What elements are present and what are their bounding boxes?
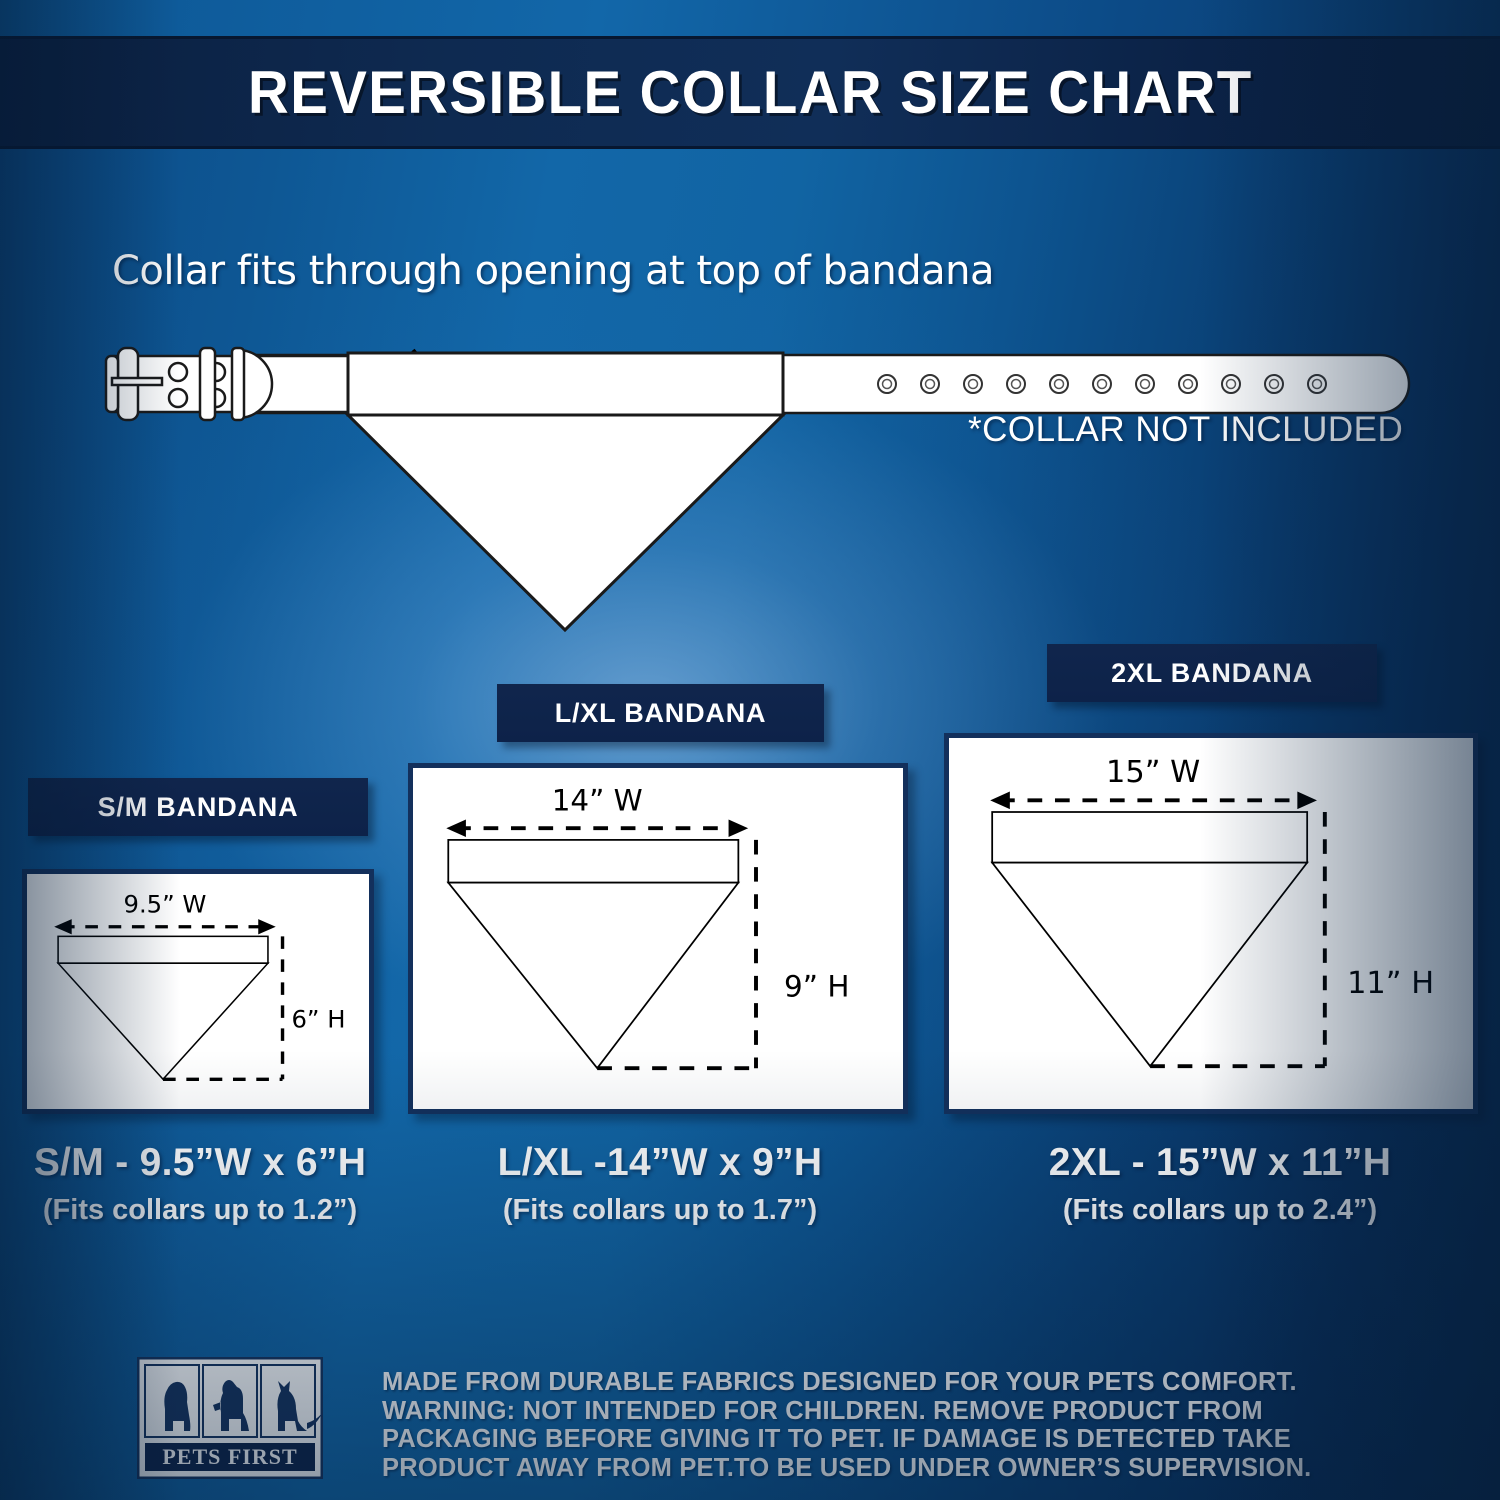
warning-line-4: PRODUCT AWAY FROM PET.TO BE USED UNDER O… [382,1454,1392,1483]
badge-2xl-label: 2XL BANDANA [1111,658,1313,689]
subcaption-2xl-text: (Fits collars up to 2.4”) [1063,1194,1377,1226]
panel-sm-diagram: 9.5” W 6” H [27,874,369,1109]
collar-annotation-text: Collar fits through opening at top of ba… [112,248,994,294]
page-title: REVERSIBLE COLLAR SIZE CHART [248,58,1253,127]
caption-2xl: 2XL - 15”W x 11”H [1020,1141,1420,1185]
panel-2xl-height-label: 11” H [1347,966,1434,1001]
caption-lxl: L/XL -14”W x 9”H [460,1141,860,1185]
panel-sm-width-label: 9.5” W [124,891,207,919]
badge-sm: S/M BANDANA [28,778,368,836]
pets-first-logo-svg: PETS FIRST [137,1357,323,1479]
size-chart-page: REVERSIBLE COLLAR SIZE CHART Collar fits… [0,0,1500,1500]
caption-sm-text: S/M - 9.5”W x 6”H [34,1141,366,1184]
panel-lxl-height-label: 9” H [784,969,849,1003]
badge-lxl: L/XL BANDANA [497,684,824,742]
pets-first-logo: PETS FIRST [137,1357,323,1479]
collar-not-included-note: *COLLAR NOT INCLUDED [968,410,1403,450]
title-band: REVERSIBLE COLLAR SIZE CHART [0,36,1500,149]
panel-sm-height-label: 6” H [291,1006,345,1034]
panel-lxl-width-label: 14” W [552,784,643,818]
logo-text: PETS FIRST [162,1444,297,1469]
bandana-on-collar [348,353,783,630]
panel-lxl-diagram: 14” W 9” H [413,768,903,1109]
panel-lxl: 14” W 9” H [408,763,908,1114]
subcaption-lxl-text: (Fits collars up to 1.7”) [503,1194,817,1226]
caption-lxl-text: L/XL -14”W x 9”H [498,1141,823,1184]
panel-2xl-width-label: 15” W [1106,755,1200,790]
collar-diagram-svg [0,320,1500,640]
panel-sm: 9.5” W 6” H [22,869,374,1114]
badge-2xl: 2XL BANDANA [1047,644,1377,702]
warning-line-3: PACKAGING BEFORE GIVING IT TO PET. IF DA… [382,1425,1392,1454]
collar-buckle [106,348,355,420]
warning-text-block: MADE FROM DURABLE FABRICS DESIGNED FOR Y… [382,1368,1392,1482]
badge-lxl-label: L/XL BANDANA [555,698,767,729]
warning-line-2: WARNING: NOT INTENDED FOR CHILDREN. REMO… [382,1397,1392,1426]
badge-sm-label: S/M BANDANA [98,792,299,823]
subcaption-sm-text: (Fits collars up to 1.2”) [43,1194,357,1226]
caption-2xl-text: 2XL - 15”W x 11”H [1049,1141,1392,1184]
subcaption-sm: (Fits collars up to 1.2”) [0,1194,400,1227]
panel-2xl-diagram: 15” W 11” H [949,738,1473,1109]
top-accent-strip [0,0,1500,36]
caption-sm: S/M - 9.5”W x 6”H [0,1141,400,1185]
collar-illustration [0,320,1500,640]
panel-2xl: 15” W 11” H [944,733,1478,1114]
subcaption-2xl: (Fits collars up to 2.4”) [1020,1194,1420,1227]
warning-line-1: MADE FROM DURABLE FABRICS DESIGNED FOR Y… [382,1368,1392,1397]
subcaption-lxl: (Fits collars up to 1.7”) [460,1194,860,1227]
